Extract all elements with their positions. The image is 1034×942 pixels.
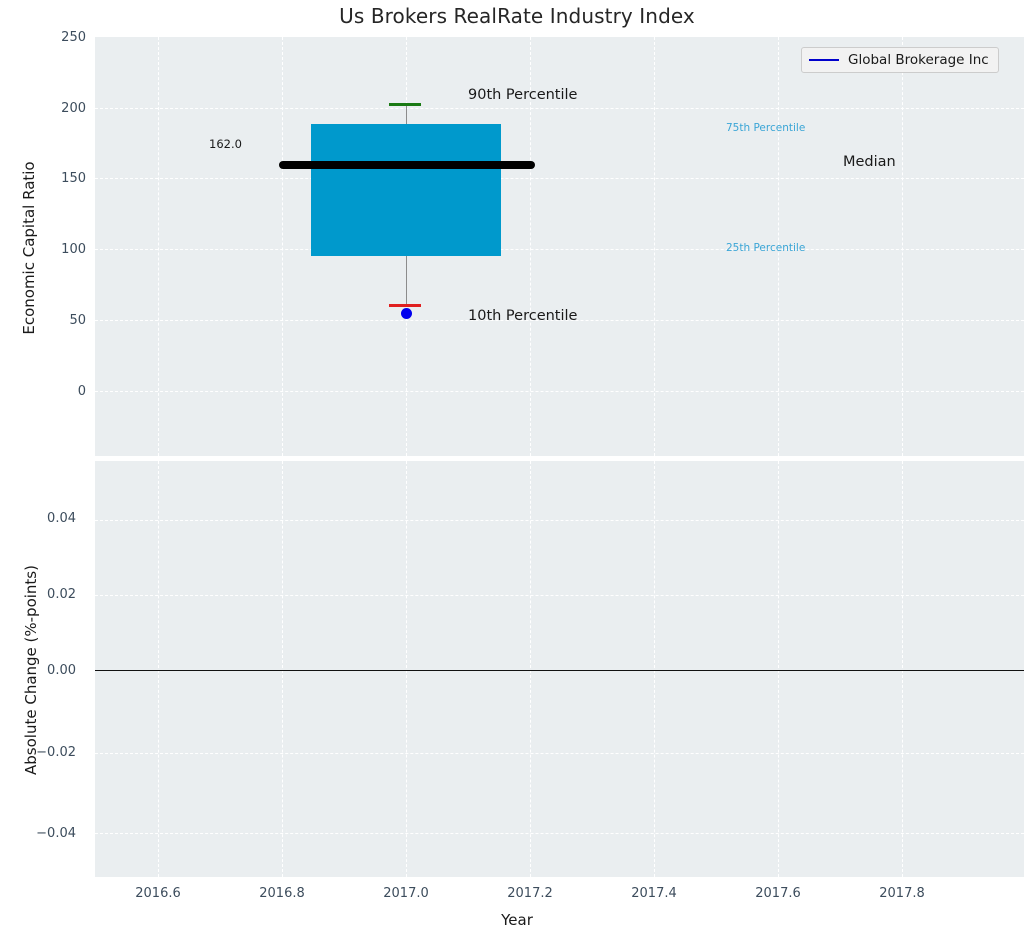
ytick-bottom-0-02: 0.02 bbox=[6, 587, 76, 602]
gridline-x-2017-4 bbox=[654, 37, 655, 456]
gridline-x-2017-8-b bbox=[902, 461, 903, 877]
gridline-x-2017-0-b bbox=[406, 461, 407, 877]
iqr-box bbox=[311, 124, 501, 256]
ytick-bottom-0-04: 0.04 bbox=[6, 511, 76, 526]
xtick-2017-0: 2017.0 bbox=[366, 886, 446, 901]
ytick-bottom-0-00: 0.00 bbox=[6, 663, 76, 678]
gridline-x-2016-8-b bbox=[282, 461, 283, 877]
ytick-bottom-neg0-04: −0.04 bbox=[6, 826, 76, 841]
plot-area-absolute-change bbox=[95, 461, 1024, 877]
gridline-x-2016-6-b bbox=[158, 461, 159, 877]
company-marker-global-brokerage-inc[interactable] bbox=[401, 308, 412, 319]
gridline-x-2017-2-b bbox=[530, 461, 531, 877]
gridline-y-0-04 bbox=[95, 520, 1024, 521]
chart-root: Us Brokers RealRate Industry Index 162.0… bbox=[0, 0, 1034, 942]
ytick-top-250: 250 bbox=[16, 30, 86, 45]
gridline-x-2016-6 bbox=[158, 37, 159, 456]
plot-area-economic-capital-ratio: 162.0 90th Percentile 75th Percentile Me… bbox=[95, 37, 1024, 456]
gridline-y-0 bbox=[95, 391, 1024, 392]
gridline-y-neg0-02 bbox=[95, 753, 1024, 754]
gridline-x-2016-8 bbox=[282, 37, 283, 456]
gridline-y-100 bbox=[95, 249, 1024, 250]
legend-entry-label: Global Brokerage Inc bbox=[848, 52, 989, 68]
xtick-2016-8: 2016.8 bbox=[242, 886, 322, 901]
xtick-2017-8: 2017.8 bbox=[862, 886, 942, 901]
gridline-y-0-02 bbox=[95, 595, 1024, 596]
annotation-25th-percentile: 25th Percentile bbox=[726, 242, 805, 254]
x-axis-title: Year bbox=[0, 911, 1034, 929]
xtick-2017-2: 2017.2 bbox=[490, 886, 570, 901]
ytick-top-0: 0 bbox=[16, 384, 86, 399]
annotation-10th-percentile: 10th Percentile bbox=[468, 308, 577, 324]
gridline-x-2017-8 bbox=[902, 37, 903, 456]
zero-reference-line bbox=[95, 670, 1024, 671]
xtick-2017-6: 2017.6 bbox=[738, 886, 818, 901]
y-axis-title-economic-capital-ratio: Economic Capital Ratio bbox=[20, 138, 38, 358]
legend[interactable]: Global Brokerage Inc bbox=[801, 47, 999, 73]
xtick-2016-6: 2016.6 bbox=[118, 886, 198, 901]
legend-line-icon bbox=[809, 59, 839, 61]
y-axis-title-absolute-change: Absolute Change (%-points) bbox=[22, 515, 40, 825]
gridline-x-2017-4-b bbox=[654, 461, 655, 877]
annotation-75th-percentile: 75th Percentile bbox=[726, 122, 805, 134]
xtick-2017-4: 2017.4 bbox=[614, 886, 694, 901]
annotation-90th-percentile: 90th Percentile bbox=[468, 87, 577, 103]
ytick-top-200: 200 bbox=[16, 101, 86, 116]
median-value-label: 162.0 bbox=[209, 137, 242, 151]
annotation-median: Median bbox=[843, 154, 896, 170]
median-line bbox=[279, 161, 535, 169]
gridline-x-2017-6-b bbox=[778, 461, 779, 877]
whisker-cap-upper-90th bbox=[389, 103, 421, 106]
gridline-y-neg0-04 bbox=[95, 833, 1024, 834]
whisker-cap-lower-10th bbox=[389, 304, 421, 307]
gridline-y-200 bbox=[95, 108, 1024, 109]
gridline-y-150 bbox=[95, 178, 1024, 179]
ytick-bottom-neg0-02: −0.02 bbox=[6, 745, 76, 760]
chart-title: Us Brokers RealRate Industry Index bbox=[0, 4, 1034, 28]
